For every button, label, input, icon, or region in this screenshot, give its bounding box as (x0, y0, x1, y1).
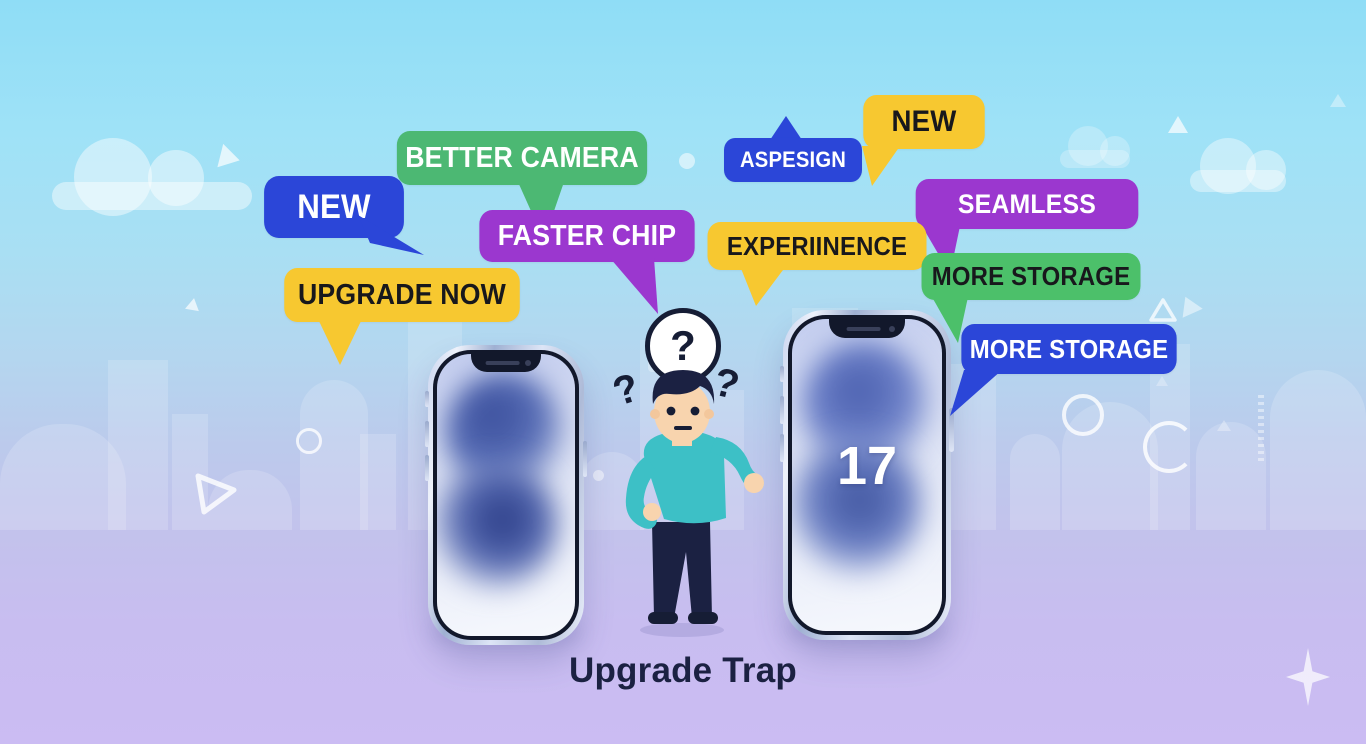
bubble-upgrade-now[interactable]: UPGRADE NOW (284, 268, 520, 322)
earpiece-speaker-icon (847, 327, 881, 331)
bubble-seamless[interactable]: SEAMLESS (916, 179, 1139, 229)
bubble-label: ASPESIGN (740, 147, 846, 173)
bubble-experiinence-tail (740, 266, 804, 308)
skyline-block (360, 434, 396, 530)
bubble-label: NEW (892, 105, 957, 139)
volume-up-button (780, 396, 784, 424)
triangle-icon (217, 144, 242, 172)
phone-left-bezel (433, 350, 579, 640)
triangle-outline-icon (1148, 296, 1178, 326)
triangle-icon (185, 297, 201, 311)
triangle-icon (1168, 116, 1188, 133)
notch (471, 354, 541, 372)
upgrade-trap-illustration: 17 ? ? ? (0, 0, 1366, 744)
skyline-block (300, 380, 368, 530)
phone-right[interactable]: 17 (783, 310, 951, 640)
play-triangle-outline-icon (190, 470, 238, 518)
volume-down-button (425, 455, 429, 481)
volume-up-button (425, 421, 429, 447)
bubble-new-right[interactable]: NEW (863, 95, 984, 149)
bubble-more-storage-blue-tail (950, 370, 1022, 418)
front-camera-icon (525, 360, 531, 366)
skyline-block (1270, 370, 1366, 530)
power-button (583, 441, 587, 477)
phone-left-screen[interactable] (437, 354, 575, 636)
bubble-label: MORE STORAGE (932, 261, 1130, 292)
bubble-label: UPGRADE NOW (298, 279, 506, 312)
confused-person: ? ? ? (600, 300, 780, 640)
phone-right-screen-label: 17 (792, 435, 942, 497)
triangle-icon (1156, 376, 1168, 386)
bubble-new-left-tail (358, 215, 426, 257)
phone-right-screen[interactable]: 17 (792, 319, 942, 631)
dotted-line-icon (1256, 395, 1266, 465)
mute-switch (425, 391, 429, 407)
circle-outline-icon (1062, 394, 1104, 436)
circle-outline-icon (1143, 421, 1195, 473)
front-camera-icon (889, 326, 895, 332)
bubble-label: BETTER CAMERA (405, 142, 639, 175)
bubble-label: FASTER CHIP (498, 220, 676, 253)
person-figure (600, 300, 780, 640)
bubble-label: MORE STORAGE (970, 334, 1168, 365)
volume-down-button (780, 434, 784, 462)
cloud-icon (1190, 170, 1286, 192)
phone-left[interactable] (428, 345, 584, 645)
bubble-new-right-tail (862, 146, 910, 188)
bubble-more-storage-green[interactable]: MORE STORAGE (922, 253, 1141, 300)
triangle-icon (1217, 420, 1231, 431)
bubble-better-camera[interactable]: BETTER CAMERA (397, 131, 647, 185)
bubble-experiinence[interactable]: EXPERIINENCE (708, 222, 927, 270)
skyline-block (1010, 434, 1060, 530)
triangle-icon (1175, 292, 1202, 317)
earpiece-speaker-icon (486, 361, 520, 365)
phone-right-bezel: 17 (788, 315, 946, 635)
page-title: Upgrade Trap (0, 651, 1366, 691)
cloud-icon (52, 182, 252, 210)
cloud-icon (1060, 150, 1130, 168)
bubble-faster-chip-tail (610, 258, 670, 318)
bubble-aspesign[interactable]: ASPESIGN (724, 138, 862, 182)
notch (829, 319, 905, 338)
bubble-faster-chip[interactable]: FASTER CHIP (479, 210, 694, 262)
bubble-more-storage-blue[interactable]: MORE STORAGE (961, 324, 1176, 374)
wallpaper-blob (437, 462, 559, 590)
skyline-block (108, 360, 168, 530)
circle-outline-icon (296, 428, 322, 454)
bubble-upgrade-now-tail (318, 319, 386, 367)
dot-icon (679, 153, 695, 169)
triangle-icon (1330, 94, 1346, 107)
bubble-label: EXPERIINENCE (727, 231, 907, 262)
mute-switch (780, 366, 784, 382)
bubble-label: SEAMLESS (958, 189, 1096, 220)
